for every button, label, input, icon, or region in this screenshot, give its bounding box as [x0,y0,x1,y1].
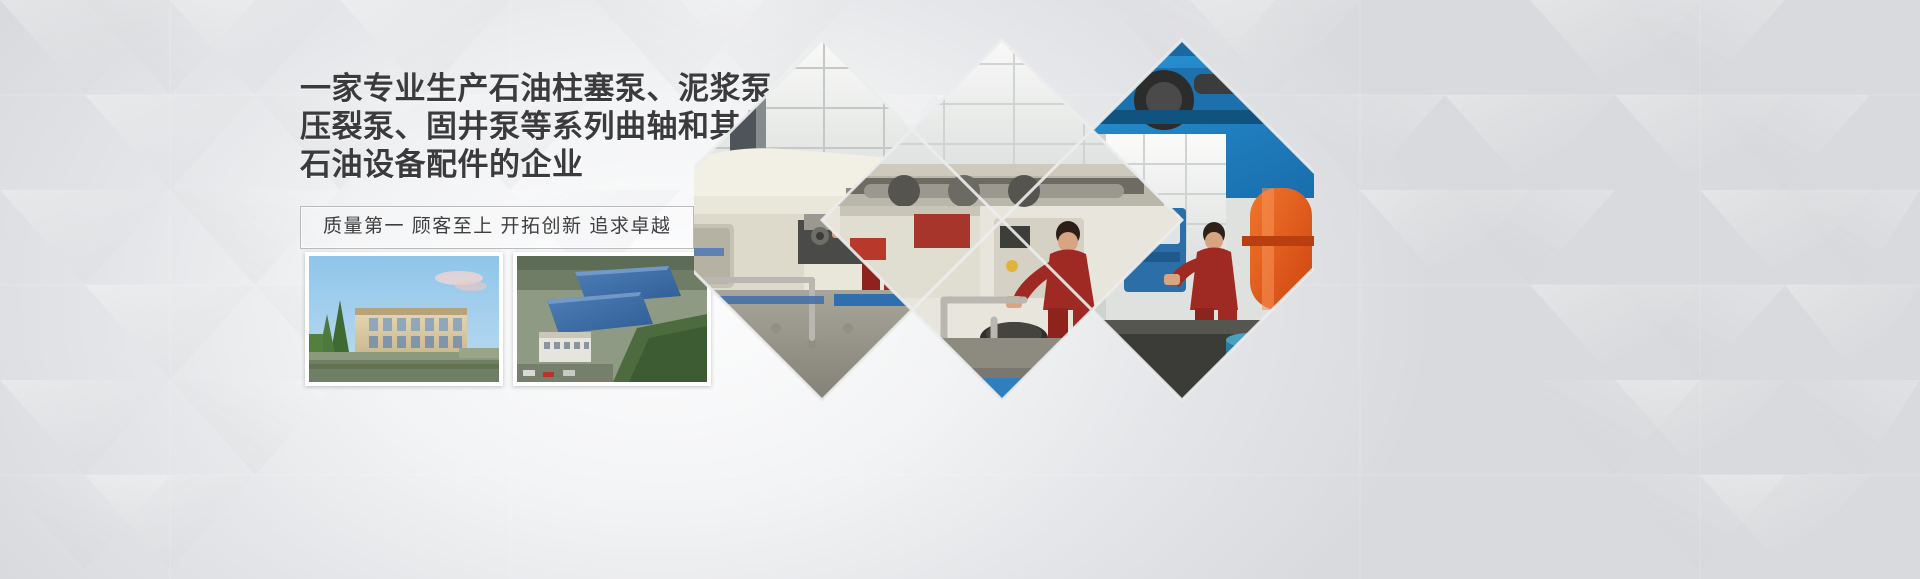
headline-block: 一家专业生产石油柱塞泵、泥浆泵、 压裂泵、固井泵等系列曲轴和其他 石油设备配件的… [300,70,720,249]
slogan-text: 质量第一 顾客至上 开拓创新 追求卓越 [323,216,671,237]
orange-pressure-tank [1242,188,1314,310]
headline-line-2: 压裂泵、固井泵等系列曲轴和其他 [300,108,720,146]
slogan-box: 质量第一 顾客至上 开拓创新 追求卓越 [300,206,694,249]
diamond-photo-collage [694,38,1314,410]
office-building-photo [305,252,503,386]
factory-aerial-photo [513,252,711,386]
promo-banner: 一家专业生产石油柱塞泵、泥浆泵、 压裂泵、固井泵等系列曲轴和其他 石油设备配件的… [0,0,1920,579]
company-photo-row [305,252,711,386]
page-title: 一家专业生产石油柱塞泵、泥浆泵、 压裂泵、固井泵等系列曲轴和其他 石油设备配件的… [300,70,720,184]
headline-line-3: 石油设备配件的企业 [300,146,720,184]
headline-line-1: 一家专业生产石油柱塞泵、泥浆泵、 [300,70,720,108]
